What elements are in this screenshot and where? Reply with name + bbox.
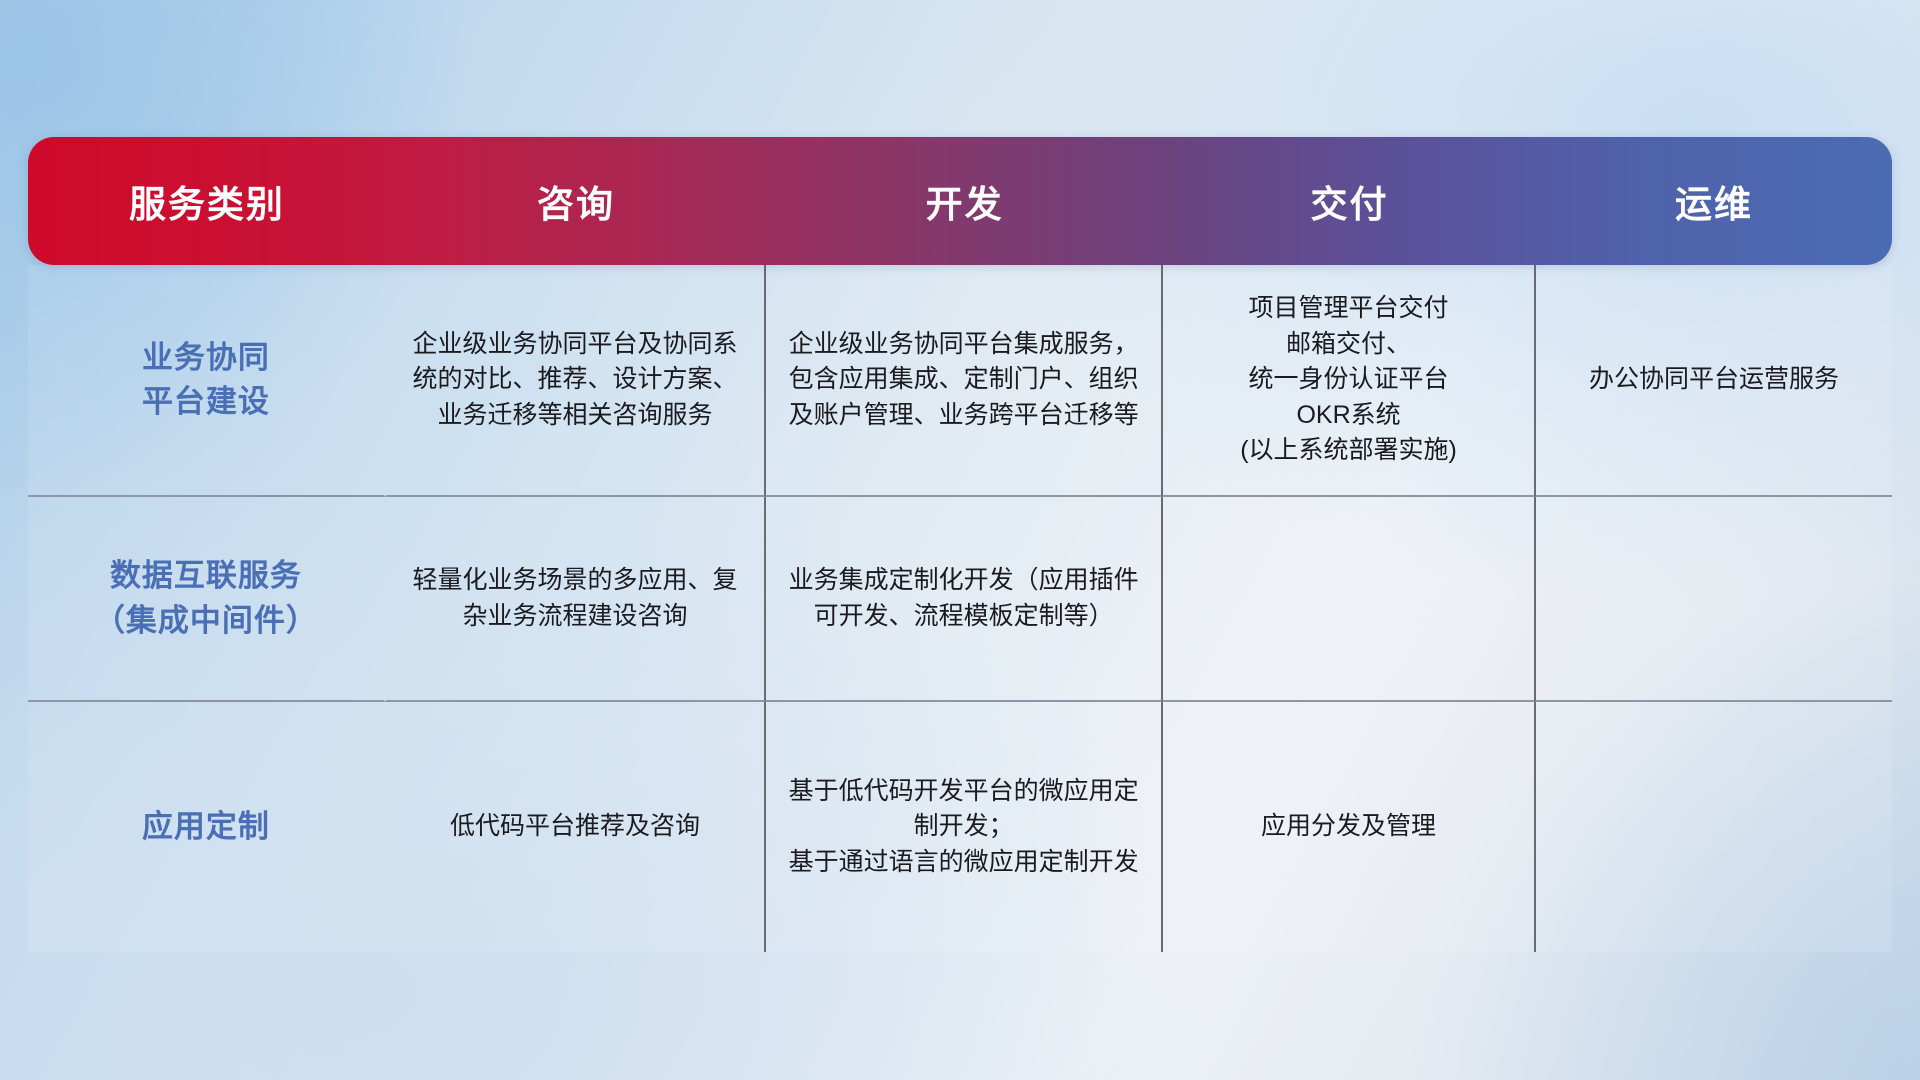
category-line: 应用定制 xyxy=(46,805,366,849)
service-matrix-table: 服务类别 咨询 开发 交付 运维 业务协同 xyxy=(28,137,1892,952)
cell-operations-row3 xyxy=(1536,702,1892,952)
development-line: 基于低代码开发平台的微应用定制开发； xyxy=(784,774,1143,845)
column-header-development: 开发 xyxy=(766,137,1163,265)
column-header-operations: 运维 xyxy=(1536,137,1892,265)
column-header-category-label: 服务类别 xyxy=(28,174,386,228)
table-header: 服务类别 咨询 开发 交付 运维 xyxy=(28,137,1892,265)
cell-operations-row2 xyxy=(1536,497,1892,702)
cell-consulting-row2: 轻量化业务场景的多应用、复杂业务流程建设咨询 xyxy=(386,497,766,702)
table-header-row: 服务类别 咨询 开发 交付 运维 xyxy=(28,137,1892,265)
cell-development-row3: 基于低代码开发平台的微应用定制开发； 基于通过语言的微应用定制开发 xyxy=(766,702,1163,952)
column-header-consulting-label: 咨询 xyxy=(386,174,766,228)
delivery-line: (以上系统部署实施) xyxy=(1181,433,1516,469)
cell-delivery-row3: 应用分发及管理 xyxy=(1163,702,1536,952)
service-matrix-table-container: 服务类别 咨询 开发 交付 运维 业务协同 xyxy=(28,137,1892,952)
category-line: 平台建设 xyxy=(46,380,366,424)
column-header-delivery: 交付 xyxy=(1163,137,1536,265)
column-header-category: 服务类别 xyxy=(28,137,386,265)
row-category-data-integration: 数据互联服务 （集成中间件） xyxy=(28,497,386,702)
table-body: 业务协同 平台建设 企业级业务协同平台及协同系统的对比、推荐、设计方案、业务迁移… xyxy=(28,265,1892,952)
cell-consulting-row1: 企业级业务协同平台及协同系统的对比、推荐、设计方案、业务迁移等相关咨询服务 xyxy=(386,265,766,497)
column-header-delivery-label: 交付 xyxy=(1163,174,1536,228)
cell-delivery-row2 xyxy=(1163,497,1536,702)
delivery-line: 项目管理平台交付 xyxy=(1181,291,1516,327)
delivery-line: 邮箱交付、 xyxy=(1181,327,1516,363)
cell-operations-row1: 办公协同平台运营服务 xyxy=(1536,265,1892,497)
category-line: 数据互联服务 xyxy=(46,554,366,598)
category-line: （集成中间件） xyxy=(46,599,366,643)
delivery-line: 统一身份认证平台 xyxy=(1181,362,1516,398)
table-row: 数据互联服务 （集成中间件） 轻量化业务场景的多应用、复杂业务流程建设咨询 业务… xyxy=(28,497,1892,702)
cell-development-row2: 业务集成定制化开发（应用插件可开发、流程模板定制等） xyxy=(766,497,1163,702)
cell-delivery-row1: 项目管理平台交付 邮箱交付、 统一身份认证平台 OKR系统 (以上系统部署实施) xyxy=(1163,265,1536,497)
category-line: 业务协同 xyxy=(46,336,366,380)
table-row: 应用定制 低代码平台推荐及咨询 基于低代码开发平台的微应用定制开发； 基于通过语… xyxy=(28,702,1892,952)
delivery-line: OKR系统 xyxy=(1181,398,1516,434)
cell-development-row1: 企业级业务协同平台集成服务，包含应用集成、定制门户、组织及账户管理、业务跨平台迁… xyxy=(766,265,1163,497)
row-category-app-customization: 应用定制 xyxy=(28,702,386,952)
development-line: 基于通过语言的微应用定制开发 xyxy=(784,845,1143,881)
table-row: 业务协同 平台建设 企业级业务协同平台及协同系统的对比、推荐、设计方案、业务迁移… xyxy=(28,265,1892,497)
column-header-development-label: 开发 xyxy=(766,174,1163,228)
column-header-operations-label: 运维 xyxy=(1536,174,1892,228)
row-category-business-collaboration: 业务协同 平台建设 xyxy=(28,265,386,497)
column-header-consulting: 咨询 xyxy=(386,137,766,265)
cell-consulting-row3: 低代码平台推荐及咨询 xyxy=(386,702,766,952)
